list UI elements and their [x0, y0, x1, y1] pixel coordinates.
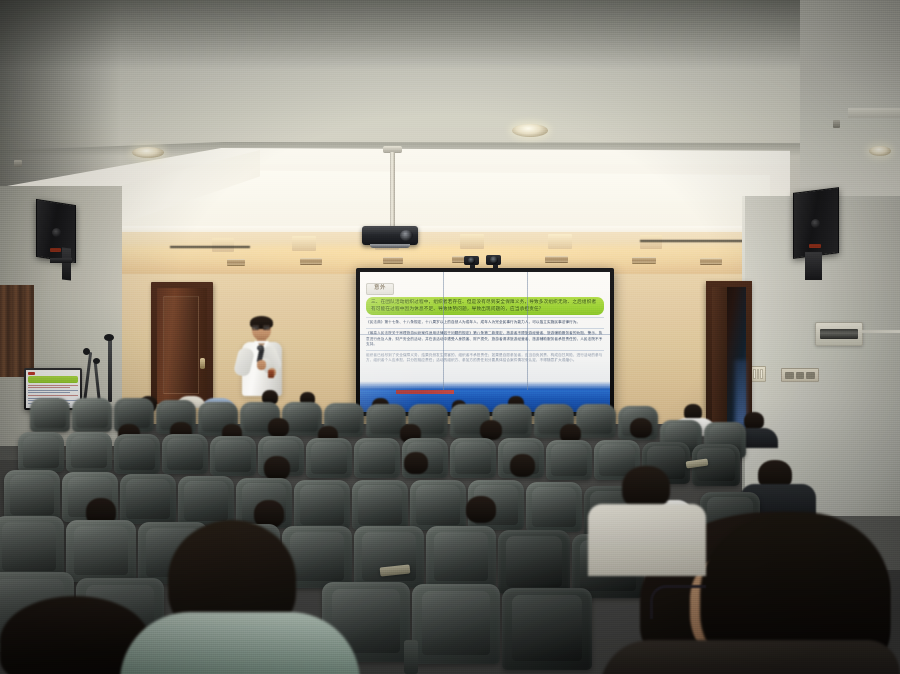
monitor-slide-tag	[28, 372, 35, 375]
audience-head	[510, 454, 535, 477]
door-handle-icon[interactable]	[200, 358, 205, 369]
monitor-text-line	[28, 385, 78, 386]
slide-divider	[366, 350, 604, 351]
seat[interactable]	[18, 432, 64, 472]
ceiling-top-shadow	[0, 0, 900, 70]
seat[interactable]	[0, 516, 64, 578]
ceiling-vent	[383, 257, 403, 264]
speaker-left-badge	[50, 248, 61, 252]
seat[interactable]	[210, 436, 256, 476]
speaker-right-badge	[809, 244, 821, 248]
microphone-head-icon	[257, 345, 264, 351]
wood-slat-panel	[0, 285, 34, 377]
speaker-left-bracket-arm	[50, 258, 72, 263]
seat[interactable]	[576, 404, 616, 438]
seat[interactable]	[178, 476, 234, 526]
lectern-post-top-icon	[104, 334, 114, 341]
ceiling-duct-right	[848, 108, 900, 118]
ceiling-right-strip	[800, 0, 900, 210]
cove-wash-light	[548, 234, 572, 249]
eyeglasses-temple-icon	[650, 585, 706, 619]
seat[interactable]	[526, 482, 582, 532]
side-door-left-panel	[163, 296, 199, 394]
audience-head	[268, 418, 289, 437]
ac-panel-vent-slot	[820, 329, 858, 339]
camera-right-lens-icon	[490, 256, 498, 264]
seat[interactable]	[354, 526, 424, 588]
ceiling-vent	[300, 258, 322, 265]
downlight-center-icon	[512, 124, 548, 137]
seat[interactable]	[410, 480, 466, 530]
ceiling-vent	[545, 256, 568, 263]
auditorium-photo: 意外 三、在团队活动组织过程中，组织者若存在、但是没有尽到安全保障义务，导致多次…	[0, 0, 900, 674]
audience-head	[404, 452, 428, 474]
seat[interactable]	[352, 480, 408, 530]
slide-section-tag: 意外	[366, 283, 394, 295]
audience-head	[264, 456, 290, 480]
seat[interactable]	[72, 398, 112, 432]
ceiling-sprinkler-left-icon	[14, 160, 22, 167]
wall-outlet-panel[interactable]	[781, 368, 819, 382]
seat[interactable]	[354, 438, 400, 478]
light-switch-key[interactable]	[757, 369, 760, 379]
downlight-right-icon	[869, 146, 891, 156]
video-wall-seam	[360, 334, 610, 335]
led-video-wall[interactable]: 意外 三、在团队活动组织过程中，组织者若存在、但是没有尽到安全保障义务，导致多次…	[356, 268, 614, 416]
seat[interactable]	[306, 438, 352, 478]
seat[interactable]	[162, 434, 208, 474]
ceiling-vent	[632, 257, 656, 264]
armrest	[404, 640, 418, 674]
side-door-right[interactable]	[712, 287, 727, 431]
foreground-shoulders-right	[600, 640, 900, 674]
projector-lens-icon	[400, 230, 413, 241]
monitor-callout-box	[28, 376, 78, 383]
camera-left-lens-icon	[468, 257, 475, 264]
speaker-right-bracket	[805, 252, 822, 280]
seat[interactable]	[546, 440, 592, 480]
outlet-slot	[785, 372, 794, 379]
seat[interactable]	[450, 438, 496, 478]
ceiling-vent	[227, 259, 245, 266]
monitor-text-line	[28, 390, 78, 391]
lectern-post	[108, 338, 112, 402]
mic-head-icon	[93, 358, 100, 364]
seat[interactable]	[498, 530, 570, 594]
slide-callout-box: 三、在团队活动组织过程中，组织者若存在、但是没有尽到安全保障义务，导致多次组织无…	[366, 297, 604, 315]
cove-wash-light	[292, 236, 316, 251]
ceiling-cable-left	[170, 246, 250, 258]
seat[interactable]	[66, 520, 136, 582]
audience-head	[466, 496, 496, 523]
seat[interactable]	[412, 584, 500, 664]
downlight-left-icon	[132, 147, 164, 158]
ceiling-vent	[700, 258, 722, 265]
seat[interactable]	[66, 432, 112, 472]
monitor-text-line	[28, 395, 78, 396]
seat[interactable]	[4, 470, 60, 520]
audience-head	[480, 420, 502, 440]
speaker-left-bracket	[62, 248, 71, 281]
slide-body-line: 《民法典》第十七条、十八条规定，十八周岁以上的自然人为成年人，成年人为完全民事行…	[366, 320, 604, 325]
seat[interactable]	[294, 480, 350, 530]
cove-wash-light	[460, 234, 484, 249]
outlet-slot	[806, 372, 815, 379]
wall-conduit	[862, 330, 900, 333]
slide-divider	[366, 328, 604, 329]
outlet-slot	[796, 372, 805, 379]
audience-head	[630, 418, 652, 438]
slide-body-line: 组织者已经尽到了安全保障义务，结果仍然发生损害的，组织者不承担责任；如果是自愿参…	[366, 353, 604, 364]
light-switch-key[interactable]	[760, 369, 763, 379]
eyeglasses-icon	[263, 325, 270, 330]
ceiling-sprinkler-right-icon	[833, 120, 840, 128]
seat[interactable]	[502, 588, 592, 670]
foreground-shoulders-left	[120, 612, 360, 674]
speaker-left-driver-icon	[52, 228, 61, 237]
mic-head-icon	[83, 348, 90, 355]
audience-shoulders	[588, 504, 706, 576]
video-wall-surface: 意外 三、在团队活动组织过程中，组织者若存在、但是没有尽到安全保障义务，导致多次…	[360, 272, 610, 412]
seat[interactable]	[114, 434, 160, 474]
speaker-right-driver-icon	[811, 219, 820, 228]
monitor-text-line	[28, 387, 70, 388]
seat[interactable]	[426, 526, 496, 588]
slide-divider	[366, 317, 604, 318]
eyeglasses-icon	[252, 325, 259, 330]
presenter-hand-left	[257, 360, 266, 370]
projector-base	[370, 244, 410, 248]
light-switch-key[interactable]	[753, 369, 756, 379]
projector-mount-pole	[390, 152, 395, 228]
seat[interactable]	[30, 398, 70, 432]
slide-red-accent	[396, 390, 454, 394]
monitor-text-line	[28, 392, 70, 393]
lanyard-badge-icon	[268, 370, 274, 378]
seat[interactable]	[120, 474, 176, 524]
